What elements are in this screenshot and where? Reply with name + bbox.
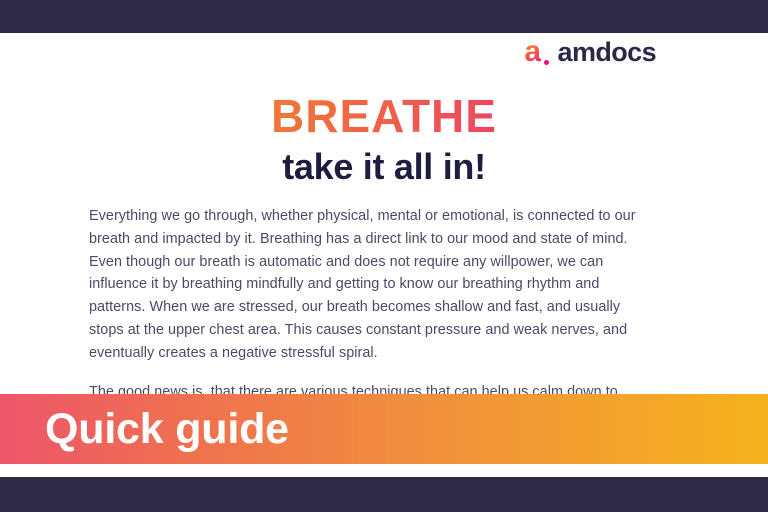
bottom-frame-bar <box>0 477 768 512</box>
top-frame-bar <box>0 0 768 33</box>
logo-a-glyph-icon: a <box>524 37 540 67</box>
slide-canvas: a amdocs BREATHE take it all in! Everyth… <box>0 0 768 512</box>
headline-subtitle: take it all in! <box>0 147 768 187</box>
logo-mark: a amdocs <box>524 37 656 67</box>
headline-main: BREATHE <box>0 92 768 140</box>
body-copy: Everything we go through, whether physic… <box>89 205 641 426</box>
logo-dot-icon <box>544 60 549 65</box>
quick-guide-label: Quick guide <box>45 408 289 451</box>
amdocs-logo: a amdocs <box>528 33 768 71</box>
logo-wordmark: amdocs <box>558 39 656 66</box>
body-paragraph-1: Everything we go through, whether physic… <box>89 205 641 365</box>
page-title: BREATHE take it all in! <box>0 92 768 187</box>
quick-guide-banner: Quick guide <box>0 394 768 464</box>
